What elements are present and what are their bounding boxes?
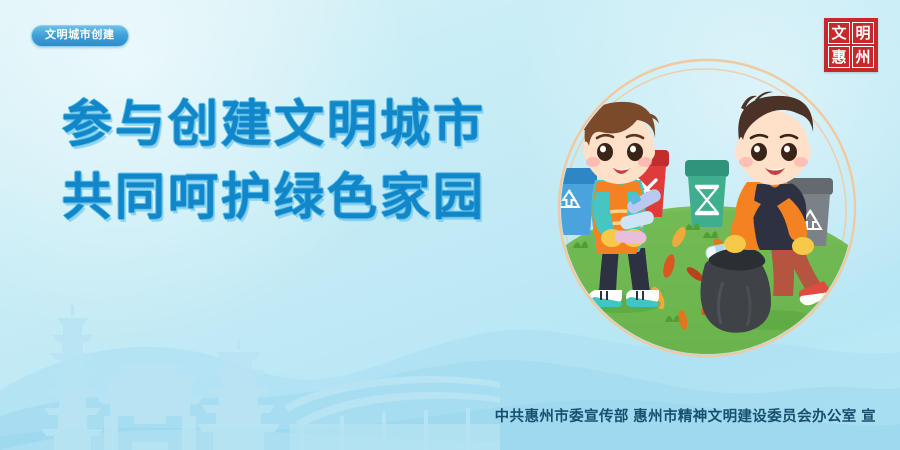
footer-attribution: 中共惠州市委宣传部 惠州市精神文明建设委员会办公室 宣 [0,405,876,426]
seal-cell-wen: 文 [828,22,850,44]
recycling-children-illustration [533,52,881,364]
black-trash-bag [700,248,771,333]
headline-line-2: 共同呵护绿色家园 [62,161,502,234]
poster-canvas: 文明城市创建 文 明 惠 州 参与创建文明城市 共同呵护绿色家园 [0,0,900,450]
pagoda-tower-left [42,305,103,450]
campaign-badge[interactable]: 文明城市创建 [31,25,129,47]
kitchen-bin-green [685,160,729,227]
huizhou-skyline-silhouette [0,300,500,450]
headline-block: 参与创建文明城市 共同呵护绿色家园 [62,88,502,234]
shoe-right [626,290,659,307]
pagoda-tower-right [197,340,280,450]
headline-line-1: 参与创建文明城市 [62,88,502,161]
seal-cell-ming: 明 [852,22,874,44]
